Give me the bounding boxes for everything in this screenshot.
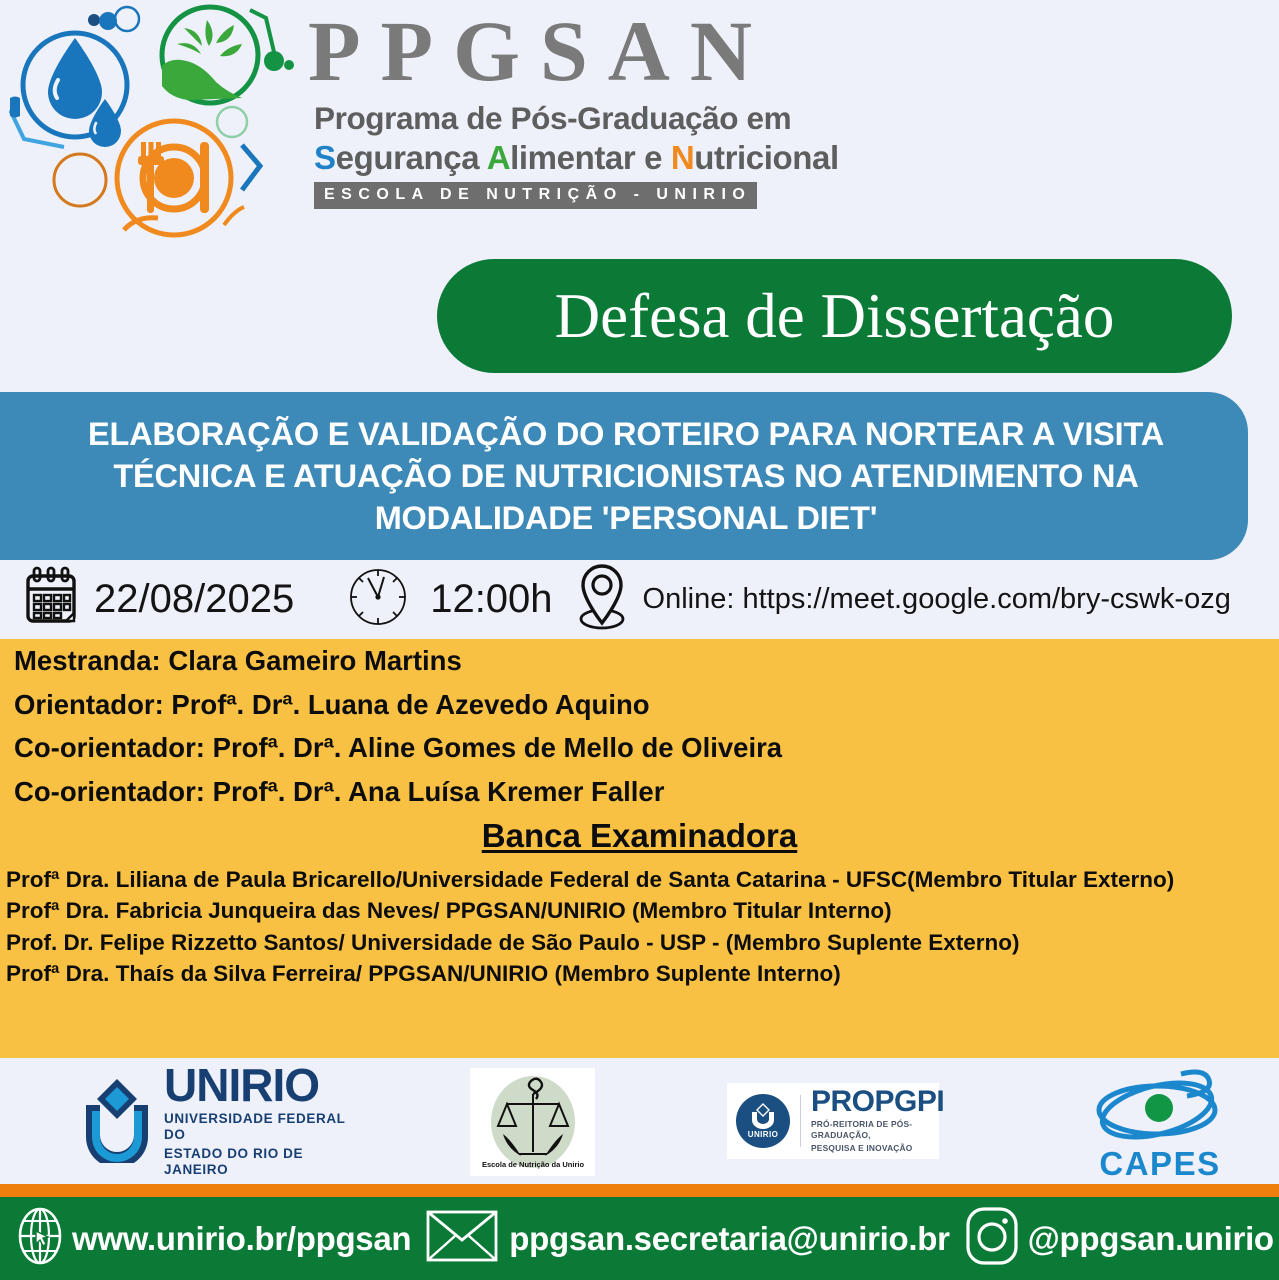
capes-logo: CAPES (1085, 1066, 1235, 1178)
map-pin-icon (573, 562, 631, 637)
banca-members-list: Profª Dra. Liliana de Paula Bricarello/U… (0, 865, 1279, 988)
brand-school-strip: ESCOLA DE NUTRIÇÃO - UNIRIO (314, 182, 757, 209)
event-type-pill: Defesa de Dissertação (437, 259, 1232, 373)
brand-alimentar: limentar e (510, 139, 671, 176)
propgpi-unirio-badge: UNIRIO (736, 1094, 790, 1148)
details-panel: Mestranda: Clara Gameiro Martins Orienta… (0, 639, 1279, 1058)
event-type-label: Defesa de Dissertação (555, 285, 1115, 348)
event-date: 22/08/2025 (94, 577, 294, 622)
sponsor-logos-row: UNIRIO UNIVERSIDADE FEDERAL DO ESTADO DO… (0, 1058, 1279, 1184)
orange-divider-bar (0, 1184, 1279, 1197)
capes-name: CAPES (1085, 1145, 1235, 1183)
propgpi-sub-line2: PESQUISA E INOVAÇÃO (811, 1143, 944, 1154)
person-coorientador-1: Co-orientador: Profª. Drª. Aline Gomes d… (14, 734, 1279, 762)
calendar-icon (22, 566, 80, 633)
people-list: Mestranda: Clara Gameiro Martins Orienta… (0, 639, 1279, 805)
instagram-contact[interactable]: @ppgsan.unirio (964, 1205, 1274, 1272)
banca-member: Prof. Dr. Felipe Rizzetto Santos/ Univer… (6, 928, 1271, 957)
brand-subtitle-line2: Segurança Alimentar e Nutricional (314, 139, 860, 177)
brand-n: N (671, 139, 694, 176)
unirio-shield-icon (78, 1075, 156, 1168)
brand-s: S (314, 139, 336, 176)
banca-heading: Banca Examinadora (0, 817, 1279, 855)
capes-orbit-icon (1085, 1066, 1235, 1149)
person-coorientador-2: Co-orientador: Profª. Drª. Ana Luísa Kre… (14, 778, 1279, 806)
brand-seguranca: egurança (336, 139, 487, 176)
brand-subtitle-line1: Programa de Pós-Graduação em (314, 100, 860, 137)
location-info: Online: https://meet.google.com/bry-cswk… (573, 562, 1231, 637)
event-time: 12:00h (430, 577, 552, 622)
thesis-title-banner: ELABORAÇÃO E VALIDAÇÃO DO ROTEIRO PARA N… (0, 392, 1248, 560)
propgpi-badge-label: UNIRIO (748, 1130, 778, 1139)
website-contact[interactable]: www.unirio.br/ppgsan (16, 1207, 411, 1270)
svg-text:Escola de Nutrição da Unirio: Escola de Nutrição da Unirio (481, 1160, 584, 1169)
unirio-sub-line1: UNIVERSIDADE FEDERAL DO (164, 1111, 348, 1143)
person-orientador: Orientador: Profª. Drª. Luana de Azevedo… (14, 691, 1279, 719)
header: PPGSAN Programa de Pós-Graduação em Segu… (0, 0, 1279, 250)
unirio-name: UNIRIO (164, 1064, 348, 1108)
contact-bar: www.unirio.br/ppgsan ppgsan.secretaria@u… (0, 1197, 1279, 1280)
clock-icon (346, 565, 410, 634)
propgpi-name: PROPGPI (811, 1088, 944, 1117)
date-info: 22/08/2025 (22, 566, 294, 633)
brand-nutricional: utricional (694, 139, 839, 176)
brand-a: A (487, 139, 510, 176)
banca-member: Profª Dra. Thaís da Silva Ferreira/ PPGS… (6, 959, 1271, 988)
escola-de-nutricao-seal-icon: Escola de Nutrição da Unirio (470, 1068, 595, 1176)
person-mestranda: Mestranda: Clara Gameiro Martins (14, 647, 1279, 675)
thesis-title: ELABORAÇÃO E VALIDAÇÃO DO ROTEIRO PARA N… (46, 413, 1206, 540)
envelope-icon (425, 1208, 499, 1269)
instagram-text: @ppgsan.unirio (1028, 1220, 1274, 1258)
banca-member: Profª Dra. Liliana de Paula Bricarello/U… (6, 865, 1271, 894)
unirio-logo: UNIRIO UNIVERSIDADE FEDERAL DO ESTADO DO… (78, 1072, 348, 1170)
poster-root: PPGSAN Programa de Pós-Graduação em Segu… (0, 0, 1279, 1280)
brand-block: PPGSAN Programa de Pós-Graduação em Segu… (300, 8, 860, 243)
globe-icon (16, 1207, 64, 1270)
brand-acronym: PPGSAN (308, 8, 860, 94)
time-info: 12:00h (346, 565, 552, 634)
ppgsan-water-plant-plate-icon (2, 0, 302, 245)
propgpi-wordmark: PROPGPI PRÓ-REITORIA DE PÓS-GRADUAÇÃO, P… (811, 1088, 944, 1153)
propgpi-divider (800, 1095, 801, 1147)
website-text: www.unirio.br/ppgsan (72, 1220, 411, 1258)
email-contact[interactable]: ppgsan.secretaria@unirio.br (425, 1208, 949, 1269)
event-info-row: 22/08/2025 12:00h (0, 560, 1279, 638)
unirio-wordmark: UNIRIO UNIVERSIDADE FEDERAL DO ESTADO DO… (164, 1064, 348, 1177)
event-location: Online: https://meet.google.com/bry-cswk… (643, 583, 1231, 616)
email-text: ppgsan.secretaria@unirio.br (509, 1220, 949, 1258)
instagram-icon (964, 1205, 1020, 1272)
propgpi-logo-icon: UNIRIO PROPGPI PRÓ-REITORIA DE PÓS-GRADU… (727, 1083, 939, 1159)
banca-member: Profª Dra. Fabricia Junqueira das Neves/… (6, 896, 1271, 925)
propgpi-sub-line1: PRÓ-REITORIA DE PÓS-GRADUAÇÃO, (811, 1119, 944, 1141)
unirio-sub-line2: ESTADO DO RIO DE JANEIRO (164, 1146, 348, 1178)
